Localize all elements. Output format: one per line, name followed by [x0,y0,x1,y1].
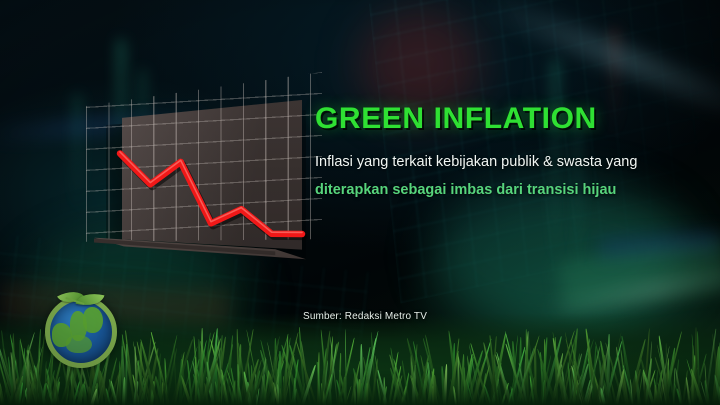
headline-prefix: Inflasi yang terkait kebijakan publik & … [315,154,637,170]
globe-icon [45,296,117,368]
grass-blade [194,357,196,405]
globe-landmass-bottom [66,335,92,353]
chart-trend-line [86,86,322,276]
grass-blade [293,378,295,405]
headline: Inflasi yang terkait kebijakan publik & … [315,149,645,205]
text-block: GREEN INFLATION Inflasi yang terkait keb… [315,104,645,205]
source-attribution: Sumber: Redaksi Metro TV [303,311,427,322]
grass-blade [464,367,466,405]
page-title: GREEN INFLATION [315,104,645,134]
headline-highlight: diterapkan sebagai imbas dari transisi h… [315,182,616,198]
globe-landmass-right [83,307,103,333]
grass-blade [383,376,386,405]
eco-globe-logo [41,286,111,360]
declining-chart-icon [86,86,322,276]
background-spike-2 [75,95,80,215]
broadcast-lower-third-graphic: GREEN INFLATION Inflasi yang terkait keb… [0,0,720,405]
